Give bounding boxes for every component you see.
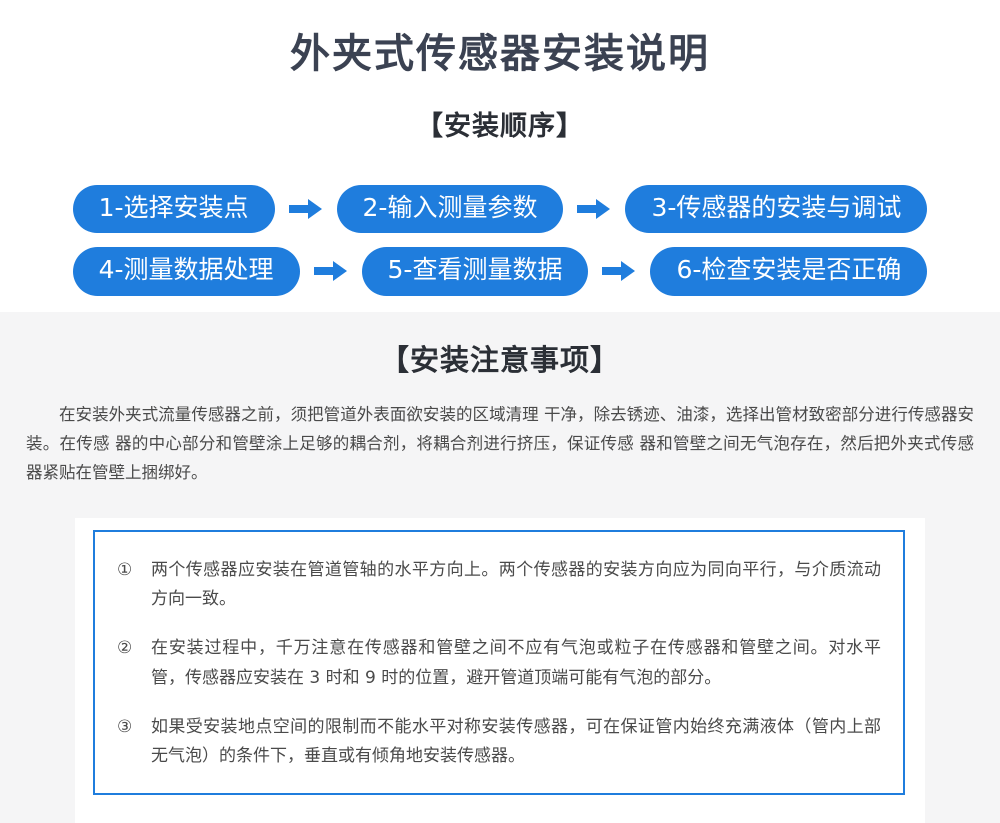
flow-step-6[interactable]: 6-检查安装是否正确: [650, 247, 927, 295]
notes-intro-paragraph: 在安装外夹式流量传感器之前，须把管道外表面欲安装的区域清理 干净，除去锈迹、油漆…: [0, 379, 1000, 488]
flow-step-3[interactable]: 3-传感器的安装与调试: [625, 185, 927, 233]
notes-bordered-box: ① 两个传感器应安装在管道管轴的水平方向上。两个传感器的安装方向应为同向平行，与…: [93, 530, 905, 795]
page-subtitle: 【安装顺序】: [0, 78, 1000, 143]
header-section: 外夹式传感器安装说明 【安装顺序】 1-选择安装点 2-输入测量参数 3-传感器…: [0, 0, 1000, 312]
arrow-right-icon: [275, 197, 337, 221]
note-marker: ①: [117, 556, 151, 585]
note-marker: ③: [117, 713, 151, 742]
notes-title: 【安装注意事项】: [0, 312, 1000, 379]
page-title: 外夹式传感器安装说明: [0, 30, 1000, 78]
arrow-right-icon: [300, 259, 362, 283]
notes-card: ① 两个传感器应安装在管道管轴的水平方向上。两个传感器的安装方向应为同向平行，与…: [75, 518, 925, 823]
note-item: ③ 如果受安装地点空间的限制而不能水平对称安装传感器，可在保证管内始终充满液体（…: [117, 713, 881, 771]
arrow-right-icon: [588, 259, 650, 283]
note-text: 两个传感器应安装在管道管轴的水平方向上。两个传感器的安装方向应为同向平行，与介质…: [151, 556, 881, 614]
flow-row-1: 1-选择安装点 2-输入测量参数 3-传感器的安装与调试: [0, 185, 1000, 233]
installation-flow: 1-选择安装点 2-输入测量参数 3-传感器的安装与调试 4-测量数据处理: [0, 143, 1000, 296]
note-item: ① 两个传感器应安装在管道管轴的水平方向上。两个传感器的安装方向应为同向平行，与…: [117, 556, 881, 614]
note-item: ② 在安装过程中，千万注意在传感器和管壁之间不应有气泡或粒子在传感器和管壁之间。…: [117, 634, 881, 692]
flow-step-4[interactable]: 4-测量数据处理: [73, 247, 300, 295]
flow-step-5[interactable]: 5-查看测量数据: [362, 247, 589, 295]
arrow-right-icon: [563, 197, 625, 221]
flow-step-2[interactable]: 2-输入测量参数: [337, 185, 564, 233]
note-text: 在安装过程中，千万注意在传感器和管壁之间不应有气泡或粒子在传感器和管壁之间。对水…: [151, 634, 881, 692]
flow-row-2: 4-测量数据处理 5-查看测量数据 6-检查安装是否正确: [0, 247, 1000, 295]
note-text: 如果受安装地点空间的限制而不能水平对称安装传感器，可在保证管内始终充满液体（管内…: [151, 713, 881, 771]
note-marker: ②: [117, 634, 151, 663]
flow-step-1[interactable]: 1-选择安装点: [73, 185, 275, 233]
notes-section: 【安装注意事项】 在安装外夹式流量传感器之前，须把管道外表面欲安装的区域清理 干…: [0, 312, 1000, 823]
